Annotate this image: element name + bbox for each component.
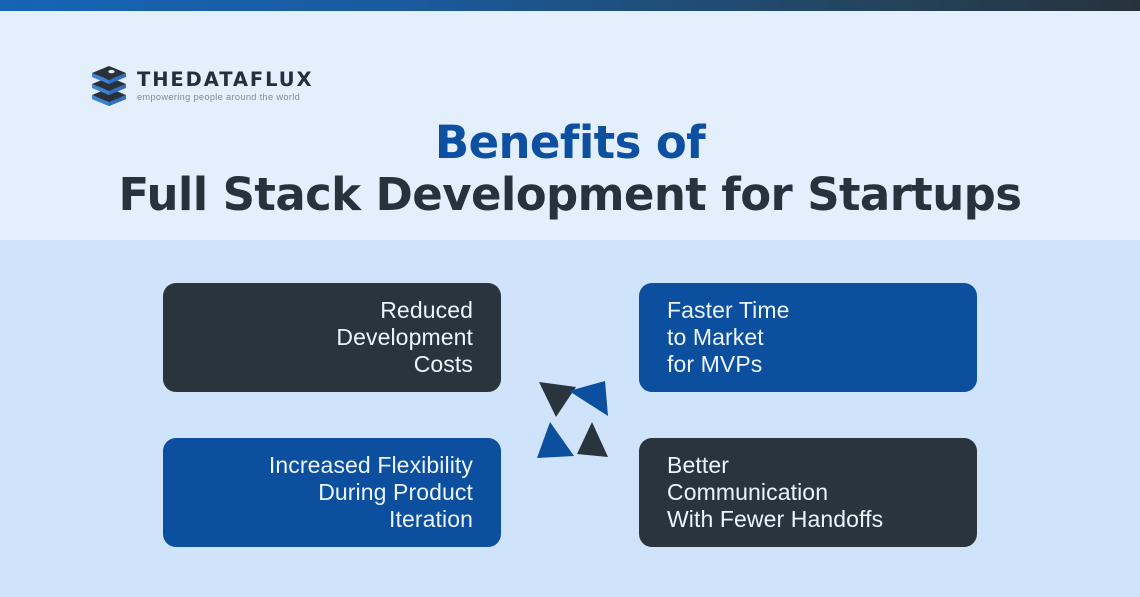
benefit-card-better-communication[interactable]: Better Communication With Fewer Handoffs [639, 438, 977, 547]
triangle-top-left-icon [539, 382, 576, 417]
benefit-card-line: Better [667, 452, 729, 479]
triangle-bottom-right-icon [577, 422, 608, 457]
benefit-card-reduced-development-costs[interactable]: Reduced Development Costs [163, 283, 501, 392]
brand-logo-text: THEDATAFLUX empowering people around the… [137, 70, 313, 103]
triangle-top-right-icon [569, 381, 608, 416]
benefit-card-line: Reduced [380, 297, 473, 324]
benefit-card-line: Costs [414, 351, 473, 378]
brand-logo: THEDATAFLUX empowering people around the… [90, 66, 313, 106]
infographic-canvas: THEDATAFLUX empowering people around the… [0, 0, 1140, 597]
brand-tagline: empowering people around the world [137, 93, 313, 102]
stacked-layers-cube-icon [90, 66, 128, 106]
four-triangle-cluster-icon [532, 378, 612, 462]
benefit-card-line: With Fewer Handoffs [667, 506, 883, 533]
triangle-bottom-left-icon [537, 422, 574, 458]
top-accent-bar [0, 0, 1140, 11]
page-title: Benefits of Full Stack Development for S… [0, 116, 1140, 221]
title-line-2: Full Stack Development for Startups [0, 168, 1140, 221]
benefit-card-line: Communication [667, 479, 828, 506]
benefit-card-line: to Market [667, 324, 764, 351]
brand-name: THEDATAFLUX [137, 70, 313, 90]
benefit-card-increased-flexibility[interactable]: Increased Flexibility During Product Ite… [163, 438, 501, 547]
benefit-card-line: for MVPs [667, 351, 762, 378]
benefit-card-line: Faster Time [667, 297, 790, 324]
title-line-1: Benefits of [0, 116, 1140, 169]
benefit-card-line: Increased Flexibility [269, 452, 473, 479]
benefit-card-faster-time-to-market[interactable]: Faster Time to Market for MVPs [639, 283, 977, 392]
benefit-card-line: During Product [318, 479, 473, 506]
benefit-card-line: Iteration [389, 506, 473, 533]
benefit-card-line: Development [336, 324, 473, 351]
